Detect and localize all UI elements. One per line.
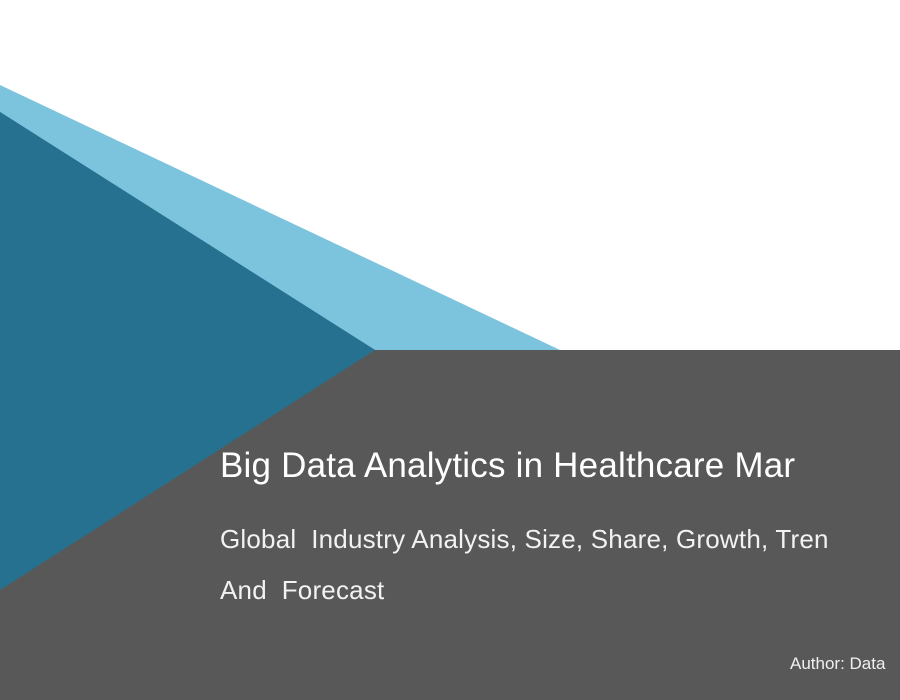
light-blue-diagonal-band <box>0 85 560 350</box>
report-cover: Big Data Analytics in Healthcare Mar Glo… <box>0 0 900 700</box>
subtitle-line-1: Global Industry Analysis, Size, Share, G… <box>220 526 829 552</box>
author-label: Author: Data <box>790 655 885 672</box>
subtitle-line-2: And Forecast <box>220 577 384 603</box>
page-title: Big Data Analytics in Healthcare Mar <box>220 448 795 483</box>
cover-text-block: Big Data Analytics in Healthcare Mar Glo… <box>220 350 900 700</box>
dark-teal-left-fill <box>0 112 375 350</box>
